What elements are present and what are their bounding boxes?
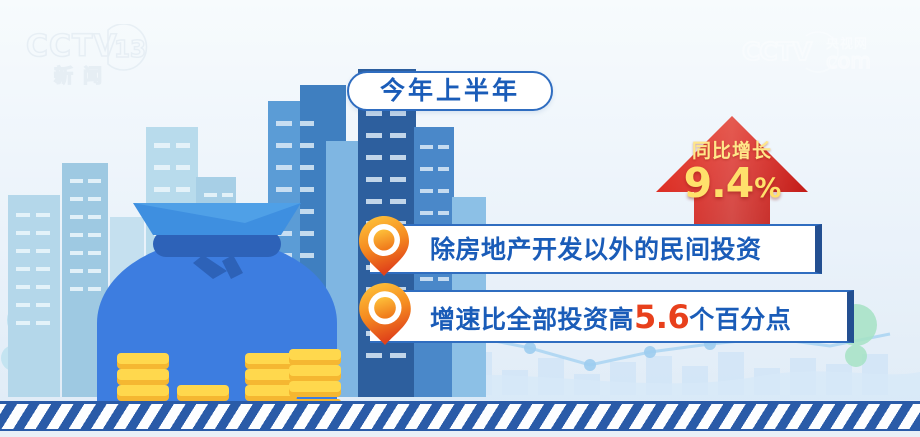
svg-text:新闻: 新闻 <box>54 64 112 86</box>
fact-bar-2: 增速比全部投资高5.6个百分点 <box>370 290 854 343</box>
bottom-striped-band <box>0 395 920 437</box>
growth-value: 9.4 <box>684 163 754 204</box>
fact-bar-2-highlight: 5.6 <box>634 298 689 336</box>
band-stripes <box>0 401 920 432</box>
svg-text:com: com <box>826 49 871 73</box>
location-pin-icon <box>358 215 410 277</box>
channel-watermark: CCTV 13 新闻 <box>22 24 182 86</box>
fact-bar-2-text: 增速比全部投资高5.6个百分点 <box>430 301 791 333</box>
infographic-stage: 今年上半年 同比增长 9.4 % <box>0 0 920 437</box>
band-base <box>0 431 920 437</box>
svg-text:CCTV: CCTV <box>26 29 118 64</box>
headline-title-pill: 今年上半年 <box>347 71 553 111</box>
svg-text:CCTV: CCTV <box>742 37 813 66</box>
fact-bar-2-suffix: 个百分点 <box>689 305 791 334</box>
fact-bar-1-text: 除房地产开发以外的民间投资 <box>430 237 762 262</box>
fact-bar-1: 除房地产开发以外的民间投资 <box>370 224 822 274</box>
svg-text:13: 13 <box>114 37 146 63</box>
money-bag-icon <box>85 195 350 410</box>
location-pin-icon <box>358 282 412 346</box>
corner-watermark: CCTV 央视网 com <box>742 30 902 78</box>
growth-value-group: 9.4 % <box>684 163 781 204</box>
growth-badge: 同比增长 9.4 % <box>654 114 810 232</box>
page-title: 今年上半年 <box>380 78 520 103</box>
growth-unit: % <box>754 175 780 202</box>
fact-bar-2-prefix: 增速比全部投资高 <box>430 305 634 334</box>
